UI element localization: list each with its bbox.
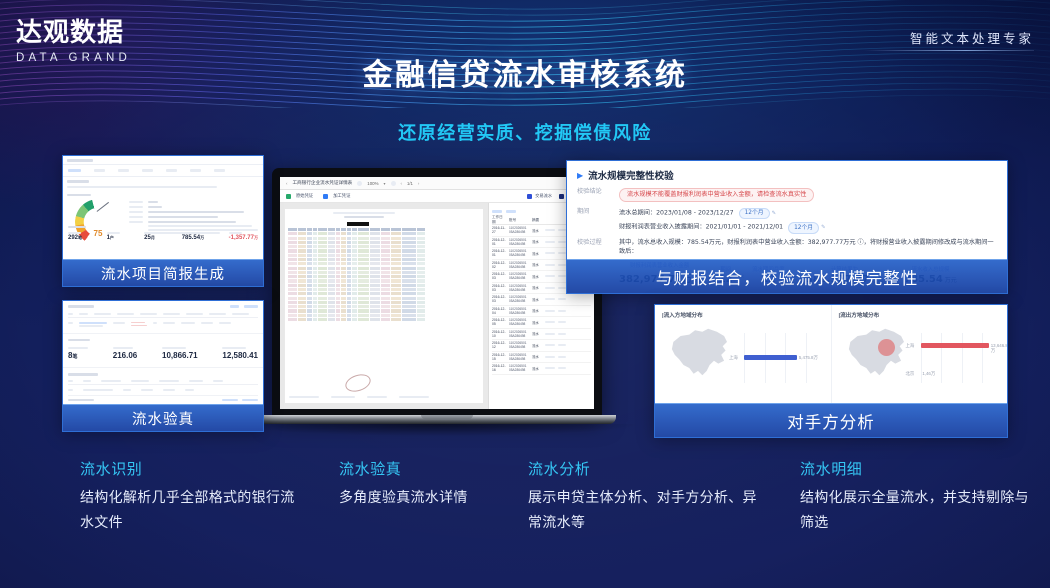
list-cell-summary: 流水	[532, 285, 542, 290]
logo-chinese-text: 达观数据	[16, 20, 151, 47]
screenshot-briefing-generation[interactable]: 75 292笔 1户 25月 785.54万 -1,357.77万	[62, 155, 264, 287]
table-row	[288, 271, 480, 274]
feature-heading-3: 流水分析	[528, 458, 768, 479]
table-cell	[417, 275, 425, 278]
table-cell	[336, 309, 340, 312]
table-cell	[358, 318, 369, 321]
table-cell	[318, 275, 327, 278]
table-cell	[370, 254, 380, 257]
list-cell-extra1	[545, 275, 555, 277]
table-cell	[307, 237, 312, 240]
table-cell	[313, 271, 317, 274]
table-cell	[370, 318, 380, 321]
table-cell	[417, 249, 425, 252]
list-item[interactable]: 2016-12-161102026501 05A286498流水	[492, 363, 591, 375]
inflow-region-chart: |流入方地域分布 上海 5,475.8万	[655, 305, 831, 403]
table-cell	[347, 232, 351, 235]
list-cell-account: 1102026501 05A286498	[509, 261, 529, 269]
table-cell	[341, 288, 346, 291]
table-cell	[318, 301, 327, 304]
check-content: ▶ 流水规模完整性校验 校验结论 流水规模不能覆盖财报利润表中营业收入金额，请检…	[567, 161, 1007, 259]
table-cell	[318, 292, 327, 295]
check-label-period: 期间	[577, 208, 619, 219]
table-cell	[347, 297, 351, 300]
table-cell	[358, 288, 369, 291]
briefing-header	[63, 156, 263, 165]
list-cell-account: 1102026501 05A286498	[509, 272, 529, 280]
table-cell	[288, 232, 297, 235]
table-cell	[370, 237, 380, 240]
check-alert-badge: 流水规模不能覆盖财报利润表中营业收入金额，请检查流水真实性	[619, 188, 814, 202]
prev-page-icon[interactable]: ‹	[286, 181, 288, 186]
table-cell	[381, 258, 390, 261]
list-cell-date: 2016-12-12	[492, 341, 506, 349]
table-cell	[298, 305, 306, 308]
table-cell	[391, 314, 401, 317]
screenshot-completeness-check[interactable]: ▶ 流水规模完整性校验 校验结论 流水规模不能覆盖财报利润表中营业收入金额，请检…	[566, 160, 1008, 294]
table-cell	[318, 258, 327, 261]
table-cell	[341, 318, 346, 321]
table-row	[288, 305, 480, 308]
chevron-down-icon[interactable]: ▾	[384, 181, 386, 186]
tab-processed-voucher[interactable]: 加工凭证	[333, 193, 350, 199]
screenshot-flow-authenticity[interactable]: 8笔 216.06 10,866.71 12,580.41	[62, 300, 264, 432]
page-subtitle: 还原经营实质、挖掘偿债风险	[0, 119, 1050, 145]
screenshot-counterparty-analysis[interactable]: |流入方地域分布 上海 5,475.8万 |流出方地域分布 上海	[654, 304, 1008, 438]
table-cell	[417, 245, 425, 248]
list-cell-extra2	[558, 241, 566, 243]
check-row-period2: 财报利润表营业收入披露期间：2021/01/01 - 2021/12/01 12…	[577, 222, 997, 233]
table-cell	[318, 279, 327, 282]
table-cell	[352, 284, 357, 287]
table-cell	[347, 301, 351, 304]
table-cell	[341, 237, 346, 240]
china-map-inflow	[661, 323, 735, 381]
table-cell	[288, 241, 297, 244]
table-cell	[417, 237, 425, 240]
table-cell	[370, 228, 380, 231]
table-cell	[352, 267, 357, 270]
table-cell	[347, 245, 351, 248]
inflow-bar	[744, 355, 797, 360]
table-cell	[336, 271, 340, 274]
table-cell	[341, 284, 346, 287]
table-cell	[381, 305, 390, 308]
table-row	[288, 228, 480, 231]
table-cell	[313, 237, 317, 240]
list-cell-summary: 流水	[532, 343, 542, 348]
table-cell	[402, 237, 416, 240]
table-cell	[370, 267, 380, 270]
table-cell	[358, 245, 369, 248]
list-cell-account: 1102026501 05A286498	[509, 226, 529, 234]
table-cell	[370, 297, 380, 300]
table-cell	[358, 262, 369, 265]
table-cell	[307, 318, 312, 321]
table-cell	[391, 318, 401, 321]
inflow-bar-label: 上海	[729, 355, 738, 361]
check-row-process: 校验过程 其中，流水总收入规模：785.54万元，财报利润表中营业收入金额：38…	[577, 239, 997, 257]
table-cell	[402, 254, 416, 257]
table-cell	[313, 292, 317, 295]
table-cell	[288, 249, 297, 252]
table-cell	[347, 241, 351, 244]
list-cell-date: 2016-12-05	[492, 318, 506, 326]
feature-block-3: 流水分析 展示申贷主体分析、对手方分析、异常流水等	[528, 458, 768, 535]
table-cell	[402, 284, 416, 287]
settings-icon[interactable]	[391, 181, 396, 186]
table-cell	[370, 245, 380, 248]
table-cell	[370, 301, 380, 304]
table-cell	[417, 254, 425, 257]
list-cell-date: 2016-12-16	[492, 364, 506, 372]
check-period-report: 财报利润表营业收入披露期间：2021/01/01 - 2021/12/01	[619, 224, 783, 231]
table-cell	[328, 258, 335, 261]
table-cell	[347, 254, 351, 257]
table-cell	[352, 262, 357, 265]
table-cell	[381, 237, 390, 240]
table-cell	[402, 228, 416, 231]
table-row	[288, 232, 480, 235]
table-cell	[402, 241, 416, 244]
tab-original-voucher[interactable]: 原始凭证	[296, 193, 313, 199]
page-forward-icon[interactable]: ›	[418, 181, 419, 186]
table-cell	[336, 305, 340, 308]
table-cell	[352, 237, 357, 240]
list-cell-extra2	[558, 275, 566, 277]
table-cell	[318, 245, 327, 248]
table-cell	[417, 301, 425, 304]
structured-data-icon	[559, 194, 564, 199]
list-cell-summary: 流水	[532, 251, 542, 256]
table-cell	[336, 284, 340, 287]
table-cell	[352, 271, 357, 274]
list-item[interactable]: 2016-12-051102026501 05A286498流水	[492, 317, 591, 329]
filter-person-icon[interactable]	[506, 210, 516, 213]
table-cell	[341, 249, 346, 252]
list-cell-extra2	[558, 310, 566, 312]
table-cell	[381, 267, 390, 270]
table-cell	[417, 262, 425, 265]
table-cell	[402, 305, 416, 308]
table-cell	[381, 284, 390, 287]
outflow-bars: 上海 13,646.82万 北京 1,46万	[916, 333, 1002, 383]
table-cell	[370, 288, 380, 291]
list-cell-extra1	[545, 321, 555, 323]
laptop-trackpad-notch	[421, 415, 473, 419]
table-cell	[358, 297, 369, 300]
table-cell	[358, 267, 369, 270]
table-cell	[347, 309, 351, 312]
outflow-bar-label: 上海	[906, 343, 915, 349]
caption-counterparty: 对手方分析	[655, 403, 1007, 437]
sheet-heading	[333, 212, 395, 220]
chevron-right-icon[interactable]: ▶	[577, 171, 583, 180]
table-cell	[370, 275, 380, 278]
table-cell	[307, 254, 312, 257]
table-cell	[402, 314, 416, 317]
table-cell	[402, 309, 416, 312]
table-row	[288, 275, 480, 278]
document-toolbar[interactable]: ‹ 工商银行企业流水凭证详情表 100% ▾ ‹ 1/1 › ⤢ ─	[280, 177, 594, 190]
list-cell-extra2	[558, 344, 566, 346]
table-cell	[417, 267, 425, 270]
table-cell	[298, 309, 306, 312]
table-cell	[352, 318, 357, 321]
table-cell	[370, 232, 380, 235]
table-cell	[358, 237, 369, 240]
table-cell	[417, 258, 425, 261]
table-cell	[336, 245, 340, 248]
document-tabbar[interactable]: 原始凭证 加工凭证 交易流水 结构化数据	[280, 190, 594, 203]
feature-heading-1: 流水识别	[80, 458, 300, 479]
table-cell	[381, 288, 390, 291]
table-cell	[298, 284, 306, 287]
list-cell-account: 1102026501 05A286498	[509, 353, 529, 361]
table-cell	[318, 228, 327, 231]
table-cell	[328, 297, 335, 300]
table-cell	[341, 309, 346, 312]
table-cell	[328, 271, 335, 274]
table-cell	[417, 292, 425, 295]
table-cell	[307, 309, 312, 312]
table-cell	[328, 309, 335, 312]
table-cell	[358, 292, 369, 295]
briefing-tabs[interactable]	[63, 165, 263, 177]
table-cell	[341, 271, 346, 274]
table-row	[288, 284, 480, 287]
table-cell	[336, 237, 340, 240]
document-title: 工商银行企业流水凭证详情表	[293, 180, 353, 186]
check-process-text: 其中，流水总收入规模：785.54万元，财报利润表中营业收入金额：382,977…	[619, 239, 997, 257]
list-cell-date: 2016-12-15	[492, 353, 506, 361]
table-cell	[347, 237, 351, 240]
list-cell-account: 1102026501 05A286498	[509, 295, 529, 303]
list-column-header: 账号	[509, 218, 529, 223]
table-cell	[402, 249, 416, 252]
table-cell	[352, 279, 357, 282]
table-cell	[313, 232, 317, 235]
outflow-bar	[921, 343, 989, 348]
list-item[interactable]: 2016-12-151102026501 05A286498流水	[492, 352, 591, 364]
check-panel-title: ▶ 流水规模完整性校验	[577, 168, 997, 182]
table-cell	[298, 228, 306, 231]
table-cell	[313, 258, 317, 261]
table-cell	[391, 232, 401, 235]
list-cell-extra2	[558, 252, 566, 254]
outflow-bar2-value: 1,46万	[922, 371, 935, 377]
table-cell	[381, 249, 390, 252]
caption-briefing: 流水项目简报生成	[63, 259, 263, 286]
list-cell-extra1	[545, 310, 555, 312]
list-cell-account: 1102026501 05A286498	[509, 330, 529, 338]
list-cell-account: 1102026501 05A286498	[509, 318, 529, 326]
table-cell	[352, 245, 357, 248]
page-back-icon[interactable]: ‹	[401, 181, 402, 186]
table-cell	[347, 284, 351, 287]
table-cell	[402, 318, 416, 321]
table-cell	[313, 262, 317, 265]
table-cell	[341, 254, 346, 257]
check-label-process: 校验过程	[577, 239, 619, 257]
table-cell	[402, 271, 416, 274]
check-row-conclusion: 校验结论 流水规模不能覆盖财报利润表中营业收入金额，请检查流水真实性	[577, 188, 997, 202]
table-cell	[370, 279, 380, 282]
table-cell	[288, 284, 297, 287]
table-cell	[288, 279, 297, 282]
table-cell	[358, 314, 369, 317]
list-item[interactable]: 2016-12-121102026501 05A286498流水	[492, 340, 591, 352]
table-cell	[307, 258, 312, 261]
list-cell-extra2	[558, 298, 566, 300]
gear-icon[interactable]	[357, 181, 362, 186]
table-cell	[347, 258, 351, 261]
table-cell	[358, 284, 369, 287]
table-cell	[391, 241, 401, 244]
table-cell	[298, 267, 306, 270]
table-cell	[352, 228, 357, 231]
briefing-metrics: 292笔 1户 25月 785.54万 -1,357.77万	[68, 226, 258, 241]
table-cell	[298, 292, 306, 295]
table-cell	[336, 292, 340, 295]
table-cell	[313, 314, 317, 317]
table-cell	[352, 297, 357, 300]
table-cell	[347, 275, 351, 278]
table-cell	[318, 297, 327, 300]
period-pill-report[interactable]: 12个月	[788, 222, 819, 233]
table-cell	[318, 249, 327, 252]
laptop-screen-content: ‹ 工商银行企业流水凭证详情表 100% ▾ ‹ 1/1 › ⤢ ─ 原始凭证 …	[280, 177, 594, 409]
table-cell	[402, 245, 416, 248]
table-cell	[298, 237, 306, 240]
document-body: 工作日期账号摘要 2016-11-271102026501 05A286498流…	[280, 203, 594, 409]
table-cell	[391, 258, 401, 261]
list-cell-date: 2016-12-03	[492, 295, 506, 303]
list-item[interactable]: 2016-12-031102026501 05A286498流水	[492, 294, 591, 306]
list-cell-date: 2016-11-27	[492, 226, 506, 234]
table-cell	[288, 292, 297, 295]
table-cell	[417, 309, 425, 312]
table-cell	[336, 314, 340, 317]
table-cell	[313, 279, 317, 282]
table-cell	[381, 271, 390, 274]
feature-body-3: 展示申贷主体分析、对手方分析、异常流水等	[528, 486, 768, 535]
table-cell	[417, 288, 425, 291]
table-cell	[328, 249, 335, 252]
list-cell-date: 2016-12-10	[492, 330, 506, 338]
table-cell	[298, 232, 306, 235]
table-cell	[288, 267, 297, 270]
table-cell	[381, 301, 390, 304]
table-cell	[318, 318, 327, 321]
check-label-period2	[577, 222, 619, 233]
period-pill-flow[interactable]: 12个月	[739, 208, 770, 219]
table-cell	[298, 314, 306, 317]
table-cell	[298, 279, 306, 282]
table-cell	[318, 271, 327, 274]
china-map-outflow	[838, 323, 912, 381]
table-cell	[402, 279, 416, 282]
table-cell	[307, 232, 312, 235]
table-cell	[347, 288, 351, 291]
list-cell-summary: 流水	[532, 308, 542, 313]
table-cell	[336, 241, 340, 244]
table-cell	[417, 284, 425, 287]
table-cell	[298, 288, 306, 291]
table-cell	[328, 279, 335, 282]
table-cell	[336, 288, 340, 291]
table-cell	[336, 279, 340, 282]
list-cell-summary: 流水	[532, 228, 542, 233]
list-cell-summary: 流水	[532, 331, 542, 336]
table-cell	[313, 297, 317, 300]
list-cell-date: 2016-12-03	[492, 284, 506, 292]
table-cell	[288, 237, 297, 240]
table-cell	[391, 237, 401, 240]
filter-account-icon[interactable]	[492, 210, 502, 213]
table-cell	[318, 309, 327, 312]
page-indicator: 1/1	[407, 181, 413, 186]
table-cell	[358, 301, 369, 304]
table-cell	[341, 279, 346, 282]
table-cell	[402, 288, 416, 291]
table-cell	[352, 249, 357, 252]
table-cell	[288, 245, 297, 248]
table-cell	[341, 245, 346, 248]
table-cell	[288, 309, 297, 312]
feature-block-4: 流水明细 结构化展示全量流水，并支持剔除与筛选	[800, 458, 1030, 535]
table-cell	[347, 262, 351, 265]
table-cell	[298, 271, 306, 274]
list-item[interactable]: 2016-12-041102026501 05A286498流水	[492, 306, 591, 318]
list-cell-extra1	[545, 344, 555, 346]
table-cell	[391, 254, 401, 257]
table-cell	[402, 301, 416, 304]
table-cell	[298, 241, 306, 244]
btn-transaction-flow[interactable]: 交易流水	[535, 193, 552, 199]
auth-section-2: 8笔 216.06 10,866.71 12,580.41	[63, 333, 263, 361]
check-period-flow: 流水总期间：2023/01/08 - 2023/12/27	[619, 209, 734, 216]
table-cell	[328, 228, 335, 231]
list-cell-account: 1102026501 05A286498	[509, 284, 529, 292]
table-cell	[318, 254, 327, 257]
table-cell	[328, 305, 335, 308]
table-cell	[391, 301, 401, 304]
list-column-header: 工作日期	[492, 215, 506, 225]
counterparty-content: |流入方地域分布 上海 5,475.8万 |流出方地域分布 上海	[655, 305, 1007, 403]
table-cell	[358, 305, 369, 308]
table-cell	[391, 228, 401, 231]
feature-block-2: 流水验真 多角度验真流水详情	[339, 458, 529, 511]
list-cell-summary: 流水	[532, 239, 542, 244]
table-cell	[381, 262, 390, 265]
table-cell	[347, 271, 351, 274]
table-row	[288, 288, 480, 291]
table-cell	[370, 241, 380, 244]
table-cell	[417, 241, 425, 244]
zoom-level[interactable]: 100%	[367, 181, 378, 186]
table-cell	[381, 275, 390, 278]
table-cell	[352, 258, 357, 261]
list-cell-extra2	[558, 333, 566, 335]
table-cell	[347, 314, 351, 317]
table-cell	[328, 254, 335, 257]
list-item[interactable]: 2016-12-101102026501 05A286498流水	[492, 329, 591, 341]
table-cell	[328, 241, 335, 244]
table-cell	[307, 271, 312, 274]
table-cell	[336, 267, 340, 270]
table-cell	[381, 292, 390, 295]
